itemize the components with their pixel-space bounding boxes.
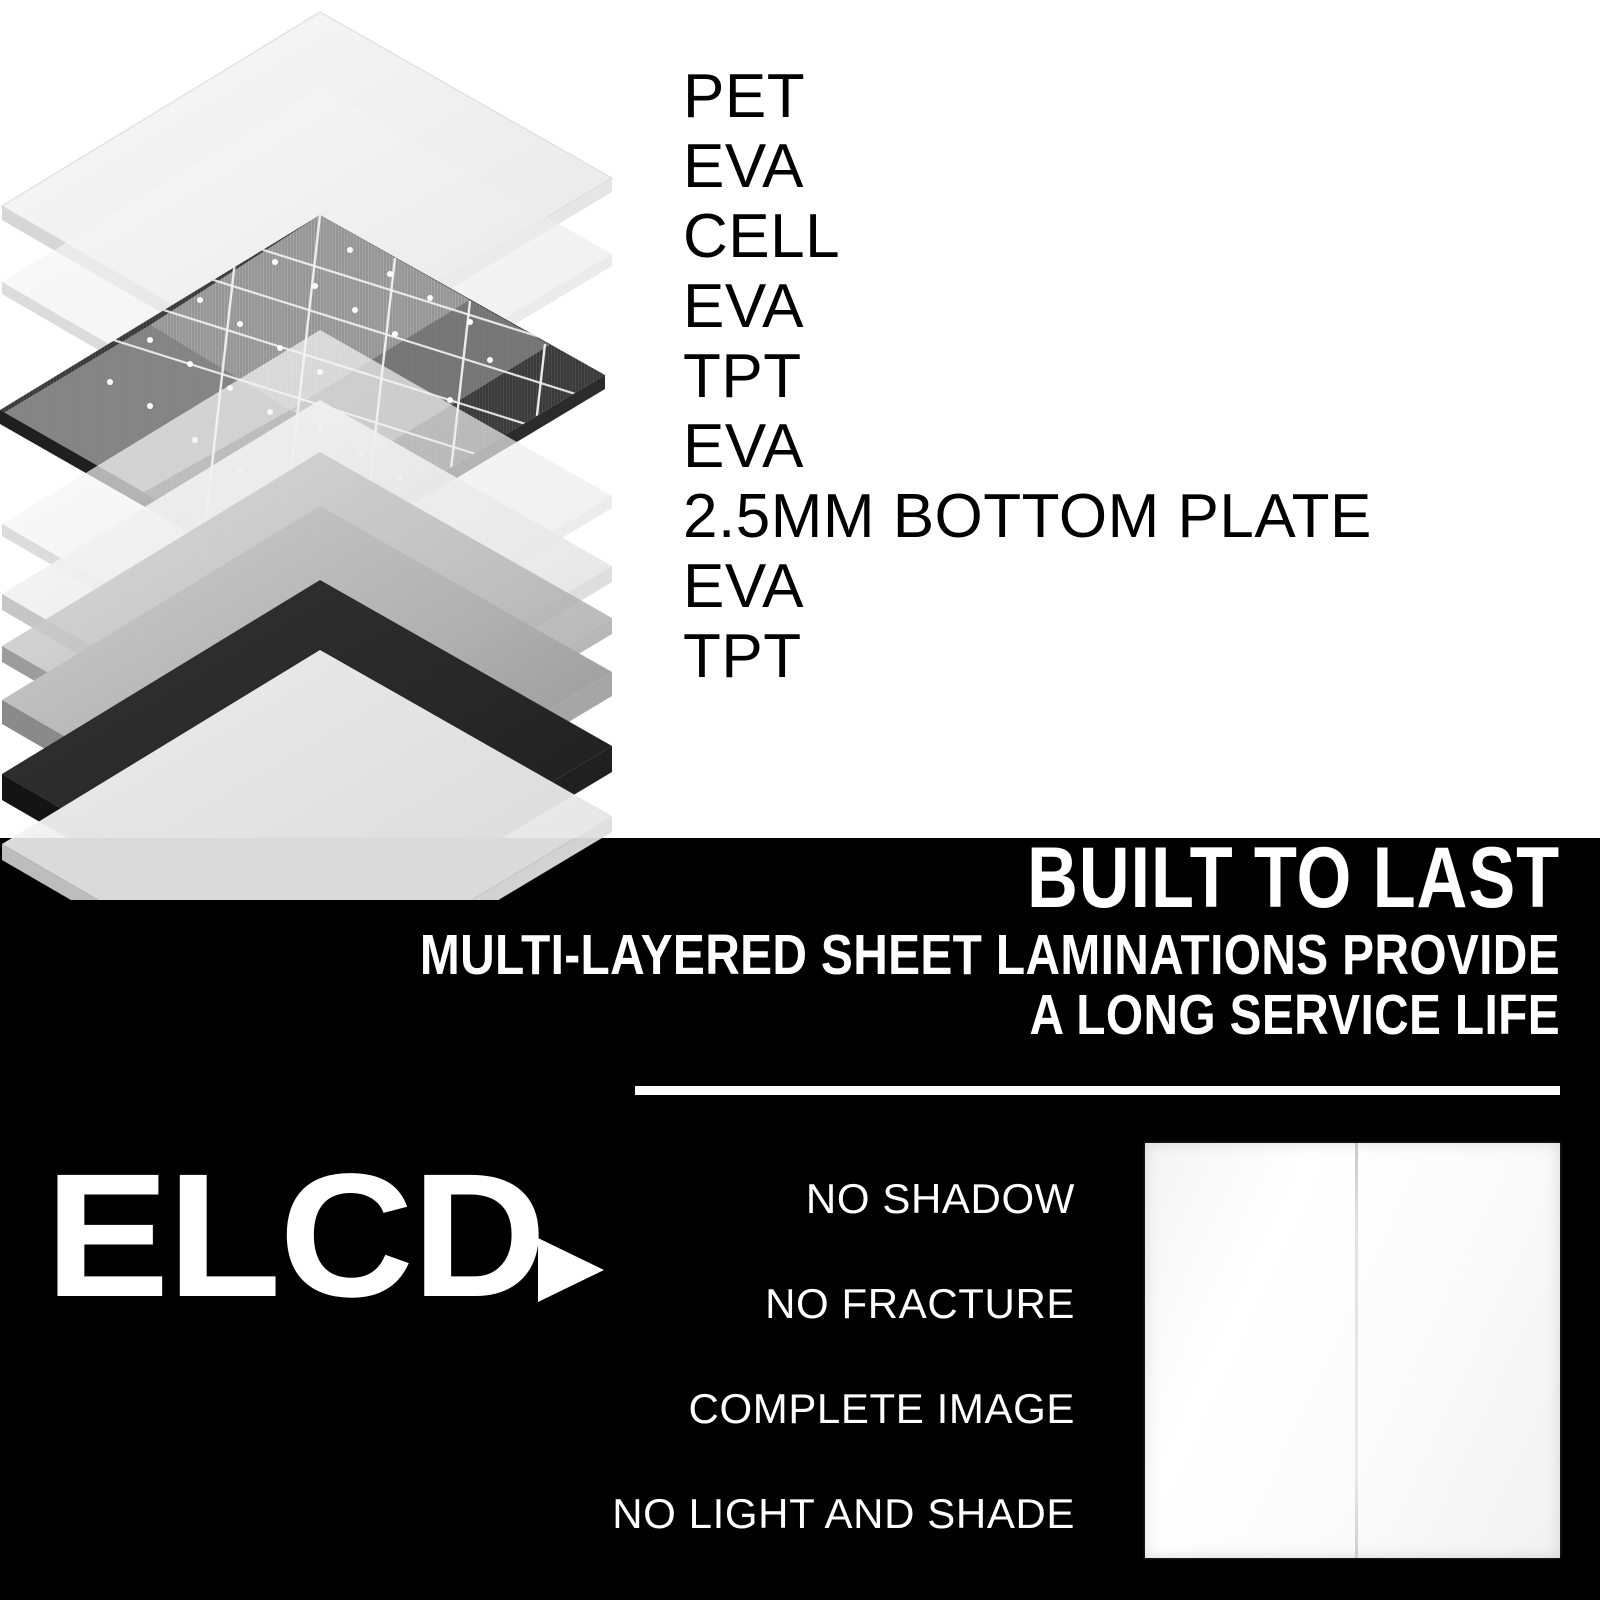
layer-label: TPT <box>683 622 1543 692</box>
banner-subheading: MULTI-LAYERED SHEET LAMINATIONS PROVIDE … <box>334 925 1560 1045</box>
layer-label: 2.5MM BOTTOM PLATE <box>683 482 1543 552</box>
el-panel-edge-shading <box>1145 1143 1560 1558</box>
layer-label: EVA <box>683 132 1543 202</box>
layer-label: CELL <box>683 202 1543 272</box>
infographic-stage: PET EVA CELL EVA TPT EVA 2.5MM BOTTOM PL… <box>0 0 1600 1600</box>
layer-label: TPT <box>683 342 1543 412</box>
layer-label-list: PET EVA CELL EVA TPT EVA 2.5MM BOTTOM PL… <box>683 62 1543 692</box>
banner-headline: BUILT TO LAST <box>576 835 1560 921</box>
layer-label: EVA <box>683 272 1543 342</box>
subheading-line-2: A LONG SERVICE LIFE <box>334 985 1560 1045</box>
feature-list: NO SHADOW NO FRACTURE COMPLETE IMAGE NO … <box>575 1178 1075 1535</box>
layer-label: EVA <box>683 412 1543 482</box>
layer-label: EVA <box>683 552 1543 622</box>
feature-item: NO LIGHT AND SHADE <box>575 1493 1075 1535</box>
feature-item: NO FRACTURE <box>575 1283 1075 1325</box>
subheading-line-1: MULTI-LAYERED SHEET LAMINATIONS PROVIDE <box>334 925 1560 985</box>
feature-item: NO SHADOW <box>575 1178 1075 1220</box>
brand-logo-text: ELCD <box>45 1148 544 1324</box>
layer-label: PET <box>683 62 1543 132</box>
exploded-solar-panel-diagram <box>0 0 650 900</box>
horizontal-divider <box>635 1086 1560 1095</box>
el-test-panel-image <box>1145 1143 1560 1558</box>
feature-item: COMPLETE IMAGE <box>575 1388 1075 1430</box>
